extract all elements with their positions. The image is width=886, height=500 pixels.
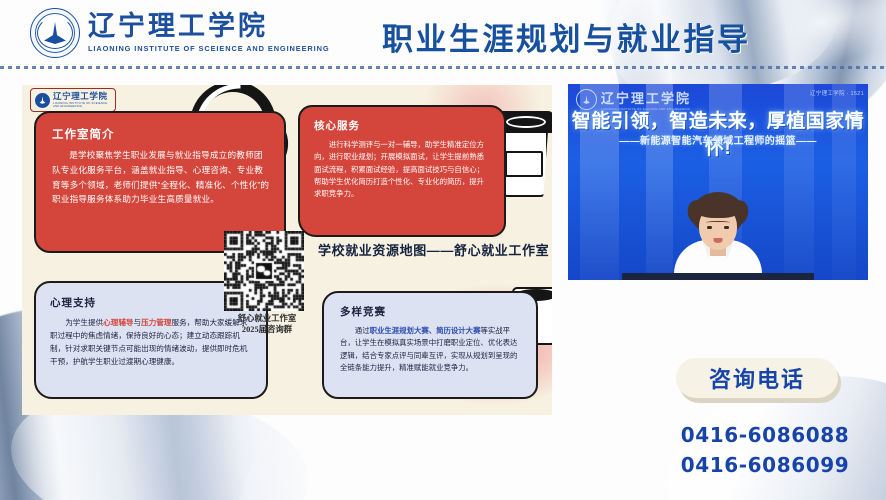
- card-core-services-body: 进行科学测评与一对一辅导，助学生精准定位方向，进行职业规划；开展模拟面试，让学生…: [314, 139, 491, 200]
- contact-label: 咨询电话: [709, 362, 805, 394]
- card-core-services-title: 核心服务: [314, 118, 491, 133]
- poster-badge-name-cn: 辽宁理工学院: [53, 92, 111, 101]
- slide-header: 辽宁理工学院 LIAONING INSTITUTE OF SCEIENCE AN…: [0, 0, 886, 68]
- university-name-cn: 辽宁理工学院: [88, 13, 330, 40]
- card-core-services: 核心服务 进行科学测评与一对一辅导，助学生精准定位方向，进行职业规划；开展模拟面…: [298, 105, 506, 237]
- poster-badge-name-en: LIAONING INSTITUTE OF SCEIENCE AND ENGIN…: [53, 102, 111, 108]
- video-watermark: 辽宁理工学院 · 1521: [810, 89, 864, 97]
- video-logo-name-cn: 辽宁理工学院: [601, 88, 691, 107]
- university-logo: 辽宁理工学院 LIAONING INSTITUTE OF SCEIENCE AN…: [30, 8, 330, 58]
- card-competitions-body: 通过职业生涯规划大赛、简历设计大赛等实战平台，让学生在模拟真实场景中打磨职业定位…: [340, 325, 523, 375]
- card-competitions-title: 多样竞赛: [340, 304, 523, 319]
- poster-logo-badge: 辽宁理工学院 LIAONING INSTITUTE OF SCEIENCE AN…: [30, 88, 116, 112]
- card-competitions: 多样竞赛 通过职业生涯规划大赛、简历设计大赛等实战平台，让学生在模拟真实场景中打…: [322, 291, 538, 399]
- card-studio-intro-body: 是学校聚焦学生职业发展与就业指导成立的教师团队专业化服务平台，涵盖就业指导、心理…: [52, 148, 270, 207]
- qr-code-block: 舒心就业工作室 2025届咨询群: [224, 231, 310, 336]
- infographic-poster: 辽宁理工学院 LIAONING INSTITUTE OF SCEIENCE AN…: [22, 85, 552, 415]
- qr-caption-line1: 舒心就业工作室: [224, 313, 310, 324]
- card-studio-intro-title: 工作室简介: [52, 126, 270, 142]
- video-subline: ——新能源智能汽车领域工程师的摇篮——: [568, 132, 868, 147]
- card-psychological-support-title: 心理支持: [50, 295, 252, 310]
- card-psychological-support-body: 为学生提供心理辅导与压力管理服务，帮助大家缓解求职过程中的焦虑情绪，保持良好的心…: [50, 316, 252, 368]
- university-name-en: LIAONING INSTITUTE OF SCEIENCE AND ENGIN…: [88, 45, 330, 52]
- speaker-avatar: [666, 192, 770, 280]
- contact-label-pill: 咨询电话: [676, 358, 838, 398]
- contact-numbers: 0416-6086088 0416-6086099: [660, 420, 870, 480]
- university-name: 辽宁理工学院 LIAONING INSTITUTE OF SCEIENCE AN…: [88, 13, 330, 52]
- page-title: 职业生涯规划与就业指导: [382, 14, 751, 59]
- qr-code-icon[interactable]: [224, 231, 304, 311]
- mini-crest-icon: [35, 93, 50, 108]
- qr-caption-line2: 2025届咨询群: [224, 324, 310, 335]
- presentation-slide: 辽宁理工学院 LIAONING INSTITUTE OF SCEIENCE AN…: [0, 0, 886, 500]
- video-player[interactable]: 辽宁理工学院 LIAONING INSTITUTE OF SCIENCE AND…: [568, 84, 868, 280]
- contact-number-1[interactable]: 0416-6086088: [660, 420, 870, 450]
- contact-number-2[interactable]: 0416-6086099: [660, 450, 870, 480]
- video-bottom-bar: [622, 273, 814, 280]
- resource-map-title: 学校就业资源地图——舒心就业工作室: [318, 240, 549, 259]
- university-crest-icon: [30, 8, 80, 58]
